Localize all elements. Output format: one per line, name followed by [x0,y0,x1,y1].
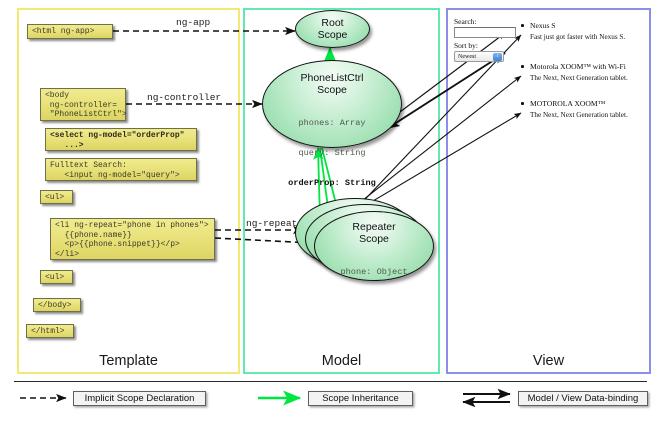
scope-prop-orderprop: orderProp: String [263,178,401,188]
panel-view-label: View [448,353,649,369]
phone-name: MOTOROLA XOOM™ [530,99,605,108]
sort-select-value: Newest [458,54,476,60]
diagram-canvas: Template Model View [0,0,661,425]
scope-prop-query: query: String [263,148,401,158]
code-box-body-tag: <body ng-controller= "PhoneListCtrl"> [40,88,126,121]
scope-repeater-title-1: Repeater [315,221,433,233]
phone-snippet: Fast just got faster with Nexus S. [530,33,625,41]
scope-phonelistctrl-title-2: Scope [263,84,401,96]
scope-repeater-title-2: Scope [315,233,433,245]
sort-label: Sort by: [454,41,478,50]
bullet-icon [521,102,524,105]
scope-root-title-2: Scope [296,29,369,41]
code-box-html-tag: <html ng-app> [27,24,113,39]
scope-root-title-1: Root [296,17,369,29]
scope-repeater-props: phone: Object [315,247,433,297]
edge-label-ng-repeat: ng-repeat [246,218,297,229]
search-label: Search: [454,17,477,26]
edge-label-ng-controller: ng-controller [147,92,221,103]
legend-scope-inheritance: Scope Inheritance [308,391,413,406]
scope-phonelistctrl: PhoneListCtrl Scope phones: Array query:… [262,60,402,148]
code-box-search-input-tag: Fulltext Search: <input ng-model="query"… [45,158,197,181]
code-box-li-repeat-tag: <li ng-repeat="phone in phones"> {{phone… [50,218,215,260]
phone-name: Motorola XOOM™ with Wi-Fi [530,62,626,71]
legend-data-binding: Model / View Data-binding [518,391,648,406]
code-box-ul-open-tag: <ul> [40,190,73,204]
phone-snippet: The Next, Next Generation tablet. [530,74,628,82]
panel-template-label: Template [19,353,238,369]
sort-select[interactable]: Newest ↕ [454,51,504,62]
bullet-icon [521,65,524,68]
scope-prop-phones: phones: Array [263,118,401,128]
scope-phonelistctrl-title-1: PhoneListCtrl [263,72,401,84]
chevron-updown-icon: ↕ [493,53,502,61]
bullet-icon [521,24,524,27]
legend-implicit-scope-declaration: Implicit Scope Declaration [73,391,206,406]
search-input[interactable] [454,27,516,38]
panel-model-label: Model [245,353,438,369]
phone-name: Nexus S [530,21,556,30]
code-box-html-close-tag: </html> [26,324,74,338]
legend-divider [14,381,647,382]
scope-repeater: Repeater Scope phone: Object [314,211,434,281]
edge-label-ng-app: ng-app [176,17,210,28]
scope-phonelistctrl-props: phones: Array query: String orderProp: S… [263,98,401,208]
phone-snippet: The Next, Next Generation tablet. [530,111,628,119]
code-box-ul-close-tag: <ul> [40,270,73,284]
scope-root: Root Scope [295,10,370,48]
scope-prop-phone: phone: Object [315,267,433,277]
code-box-body-close-tag: </body> [33,298,81,312]
legend-glyph-double [463,394,510,402]
code-box-select-tag: <select ng-model="orderProp" ...> [45,128,197,151]
